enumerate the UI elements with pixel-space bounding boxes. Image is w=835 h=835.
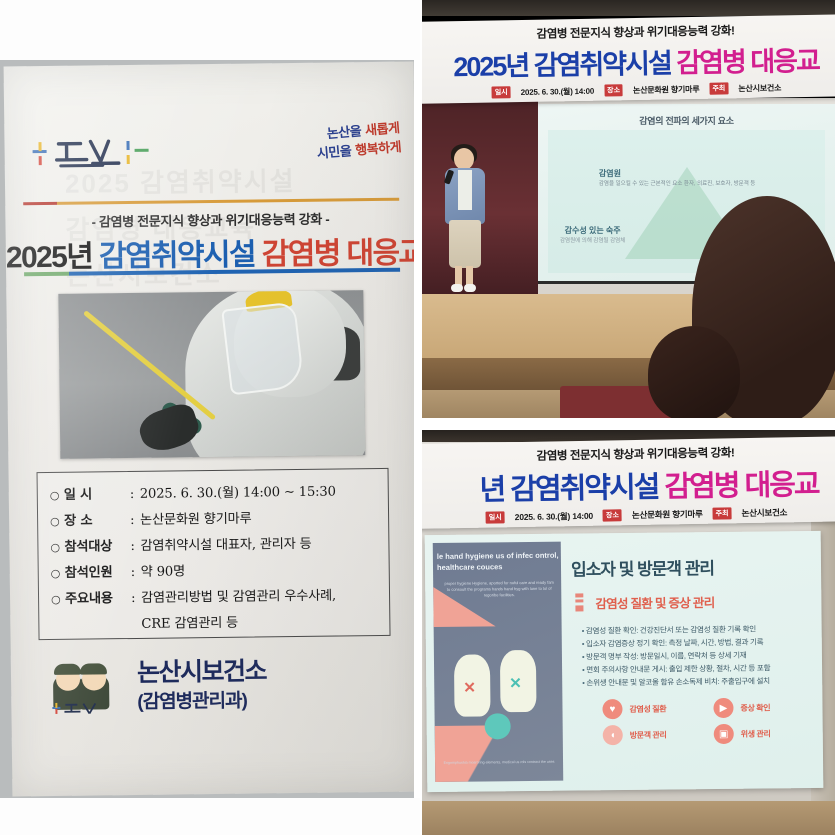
slide-right-content: 입소자 및 방문객 관리 감염성 질환 및 증상 관리 감염성 질환 확인: 건… [567, 539, 815, 781]
banner-title-year: 2025년 [453, 51, 528, 82]
slogan-line2b: 행복하게 [355, 140, 402, 159]
detail-value-attendance: 약 90명 [141, 559, 186, 586]
collage-gap-horizontal [414, 418, 835, 430]
banner-title-pink-2: 감염병 대응교 [664, 469, 819, 504]
collage-gap-bottom [0, 798, 420, 835]
heart-icon: ♥ [602, 699, 622, 719]
hygiene-badge-icon [485, 713, 511, 739]
icon-item-hygiene: ▣ 위생 관리 [714, 723, 815, 744]
hand-left-illustration: ✕ [454, 654, 491, 716]
mascot-characters-icon [51, 659, 128, 714]
detail-row-date: ○ 일 시 : 2025. 6. 30.(월) 14:00 ~ 15:30 [50, 479, 378, 509]
slide-photo: le hand hygiene us of infec ontrol, heal… [420, 428, 835, 835]
slogan-line1b: 새롭게 [365, 121, 401, 139]
icon-item-visitor: ◖ 방문객 관리 [603, 724, 704, 745]
detail-value-place: 논산문화원 향기마루 [140, 507, 252, 534]
detail-label-content: 주요내용 [65, 586, 131, 613]
slide-left-english-body: proper hygiene Hygiene, aported for nufu… [443, 580, 555, 599]
poster-panel: 2025 감염취약시설감염병 대응교육논산시보건소 논산을 [0, 58, 418, 800]
banner-value-place-2: 논산문화원 향기마루 [632, 508, 703, 521]
banner-value-place: 논산문화원 향기마루 [633, 83, 700, 95]
circle-bullet-icon: ○ [50, 483, 64, 509]
colon-3: : [131, 560, 141, 586]
detail-value-audience: 감염취약시설 대표자, 관리자 등 [140, 532, 311, 560]
detail-label-audience: 참석대상 [64, 534, 130, 561]
detail-label-attendance: 참석인원 [65, 560, 131, 587]
detail-row-audience: ○ 참석대상 : 감염취약시설 대표자, 관리자 등 [50, 531, 378, 561]
banner-value-date: 2025. 6. 30.(월) 14:00 [521, 85, 595, 97]
node-label-source: 감염원 감염을 일으킬 수 있는 근본적인 요소 환자, 의료진, 보호자, 방… [599, 168, 756, 187]
hand-left-mark: ✕ [463, 679, 476, 697]
banner-title-pink: 감염병 대응교 [676, 46, 819, 78]
circle-bullet-icon: ○ [51, 587, 65, 613]
node-label-host: 감수성 있는 숙주 감염원에 의해 감염될 감염체 [560, 225, 625, 247]
slide-subtitle-row: 감염성 질환 및 증상 관리 [571, 590, 813, 613]
hand-right-mark: ✕ [509, 674, 522, 692]
detail-row-content-cont: CRE 감염관리 등 [51, 609, 379, 639]
detail-value-content-continued: CRE 감염관리 등 [141, 611, 238, 638]
node-host-desc: 감염원에 의해 감염될 감염체 [560, 236, 625, 247]
banner-value-date-2: 2025. 6. 30.(월) 14:00 [515, 510, 593, 523]
slide-title: 입소자 및 방문객 관리 [571, 553, 813, 581]
detail-row-place: ○ 장 소 : 논산문화원 향기마루 [50, 505, 378, 535]
slide-subtitle: 감염성 질환 및 증상 관리 [595, 592, 714, 612]
slide-left-panel: le hand hygiene us of infec ontrol, heal… [433, 542, 563, 782]
banner-title-2: 년 감염취약시설 감염병 대응교 [420, 460, 835, 510]
node-source-text: 감염원 [599, 169, 621, 178]
department-name: (감염병관리과) [137, 685, 266, 714]
detail-row-attendance: ○ 참석인원 : 약 90명 [51, 557, 379, 587]
detail-row-content: ○ 주요내용 : 감염관리방법 및 감염관리 우수사례, [51, 583, 379, 613]
lecture-slide-title: 감염의 전파의 세가지 요소 [538, 114, 835, 127]
icon-label-symptom: 증상 확인 [740, 702, 770, 713]
hand-right-illustration: ✕ [500, 650, 537, 712]
slogan-line2a: 시민을 [316, 144, 352, 162]
detail-label-date: 일 시 [64, 482, 130, 509]
slide-bullet-list: 감염성 질환 확인: 건강진단서 또는 감염성 질환 기록 확인 입소자 감염증… [582, 622, 815, 689]
poster-title-year: 2025년 [6, 240, 93, 274]
banner-value-host: 논산시보건소 [738, 82, 781, 94]
detail-value-date: 2025. 6. 30.(월) 14:00 ~ 15:30 [140, 480, 336, 508]
icon-item-symptom: ▶ 증상 확인 [713, 697, 814, 718]
poster-title-red: 감염병 대응교육 [262, 236, 418, 271]
slide-bullet-5: 손위생 안내문 및 알코올 함유 손소독제 비치: 주출입구에 설치 [582, 674, 814, 689]
poster-title-blue: 감염취약시설 [99, 238, 255, 273]
poster-footer-text: 논산시보건소 (감염병관리과) [137, 651, 267, 714]
organization-name: 논산시보건소 [137, 651, 266, 689]
slide-icon-grid: ♥ 감염성 질환 ▶ 증상 확인 ◖ 방문객 관리 ▣ 위생 관리 [602, 697, 814, 745]
soap-icon: ▣ [714, 724, 734, 744]
icon-label-hygiene: 위생 관리 [741, 728, 771, 739]
banner-value-host-2: 논산시보건소 [741, 506, 787, 519]
photo-collage: 2025 감염취약시설감염병 대응교육논산시보건소 논산을 [0, 0, 835, 835]
megaphone-icon: ◖ [603, 725, 623, 745]
banner-title: 2025년 감염취약시설 감염병 대응교 [420, 38, 835, 85]
node-host-text: 감수성 있는 숙주 [565, 226, 621, 235]
circle-bullet-icon: ○ [50, 509, 64, 535]
banner-title-blue-cropped: 년 감염취약시설 [479, 472, 658, 507]
banner-tag-place-2: 장소 [603, 509, 622, 521]
banner-tag-date-2: 일시 [486, 511, 505, 523]
audience-head-second [648, 326, 740, 421]
banner-tag-host: 주최 [709, 82, 728, 94]
poster-ppe-photo [58, 290, 365, 459]
colon-4: : [131, 586, 141, 612]
colon-0: : [130, 482, 140, 508]
icon-label-disease: 감염성 질환 [629, 703, 666, 714]
poster-detail-box: ○ 일 시 : 2025. 6. 30.(월) 14:00 ~ 15:30 ○ … [37, 468, 391, 640]
icon-item-disease: ♥ 감염성 질환 [602, 698, 703, 719]
lecture-photo: 감염의 전파의 세가지 요소 감염원 감염을 일으킬 수 있는 근본적인 요소 … [420, 0, 835, 421]
banner-tag-host-2: 주최 [713, 507, 732, 519]
node-source-desc: 감염을 일으킬 수 있는 근본적인 요소 환자, 의료진, 보호자, 방문객 등 [599, 179, 756, 187]
education-poster: 2025 감염취약시설감염병 대응교육논산시보건소 논산을 [4, 62, 418, 797]
circle-bullet-icon: ○ [51, 561, 65, 587]
slogan-line1a: 논산을 [326, 124, 362, 142]
banner-title-blue: 감염취약시설 [533, 48, 671, 80]
icon-label-visitor: 방문객 관리 [630, 729, 667, 740]
nonsan-city-logo [30, 129, 151, 174]
banner-tag-date: 일시 [492, 86, 511, 98]
colon-1: : [130, 508, 140, 534]
event-banner-bottom: 감염병 전문지식 향상과 위기대응능력 강화! 년 감염취약시설 감염병 대응교… [420, 436, 835, 529]
poster-footer: 논산시보건소 (감염병관리과) [41, 650, 392, 724]
event-banner-top: 감염병 전문지식 향상과 위기대응능력 강화! 2025년 감염취약시설 감염병… [420, 14, 835, 104]
banner-tag-place: 장소 [604, 84, 623, 96]
slide-projection-screen: le hand hygiene us of infec ontrol, heal… [425, 531, 824, 792]
circle-bullet-icon: ○ [50, 535, 64, 561]
detail-value-content: 감염관리방법 및 감염관리 우수사례, [141, 584, 336, 612]
colon-2: : [130, 534, 140, 560]
speaker-figure [442, 148, 490, 293]
detail-label-place: 장 소 [64, 508, 130, 535]
collage-gap-top [0, 0, 420, 60]
slide-left-english-title: le hand hygiene us of infec ontrol, heal… [437, 550, 559, 573]
play-icon: ▶ [713, 698, 733, 718]
clipboard-icon [571, 592, 587, 612]
